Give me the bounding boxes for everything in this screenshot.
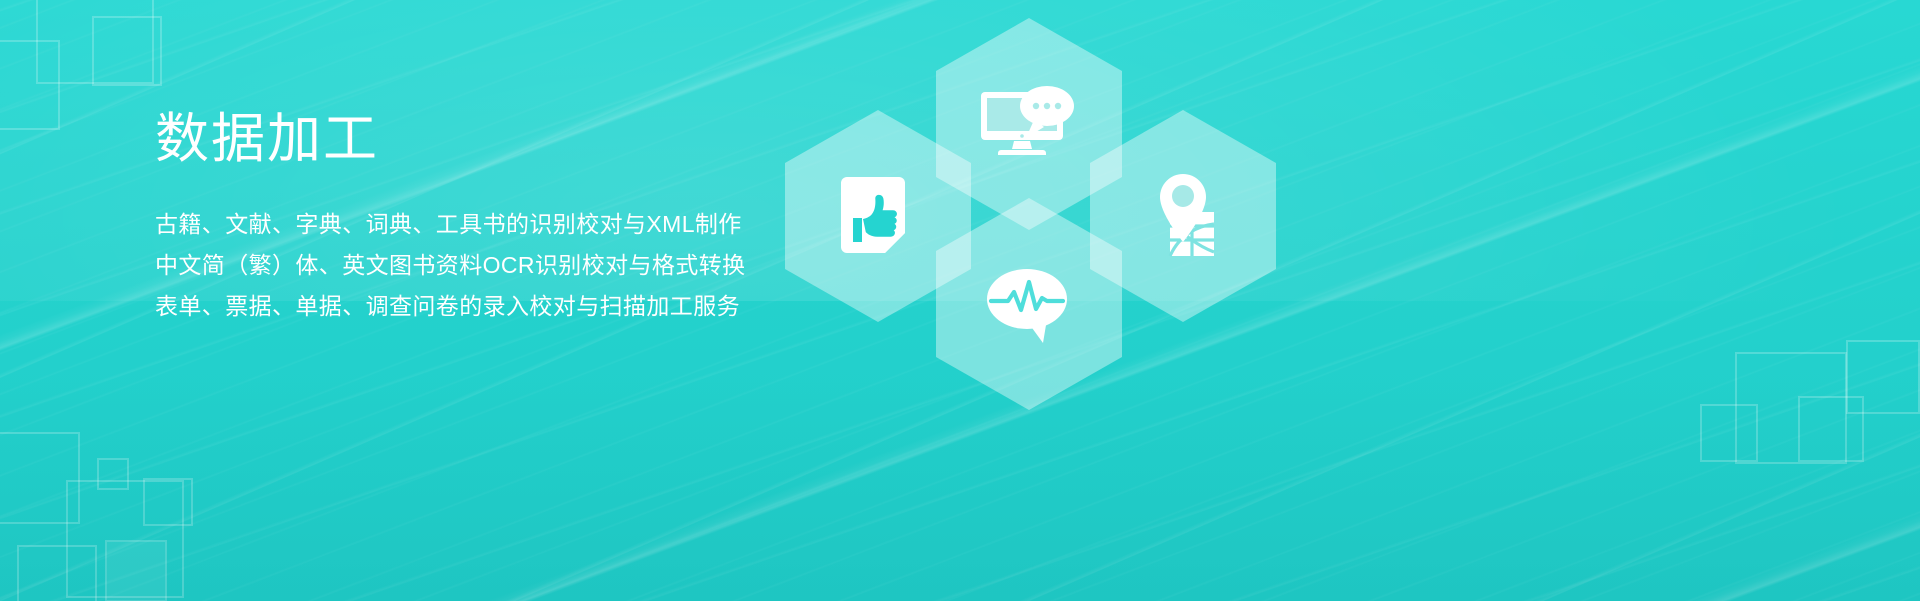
monitor-chat-icon bbox=[981, 82, 1077, 166]
document-thumbs-up-icon bbox=[839, 171, 917, 261]
banner-hero: 数据加工 古籍、文献、字典、词典、工具书的识别校对与XML制作 中文简（繁）体、… bbox=[0, 0, 1920, 601]
map-location-pin-icon bbox=[1140, 170, 1226, 262]
speech-bubble-pulse-icon bbox=[983, 265, 1075, 343]
hexagon-icon-cluster bbox=[780, 0, 1300, 360]
